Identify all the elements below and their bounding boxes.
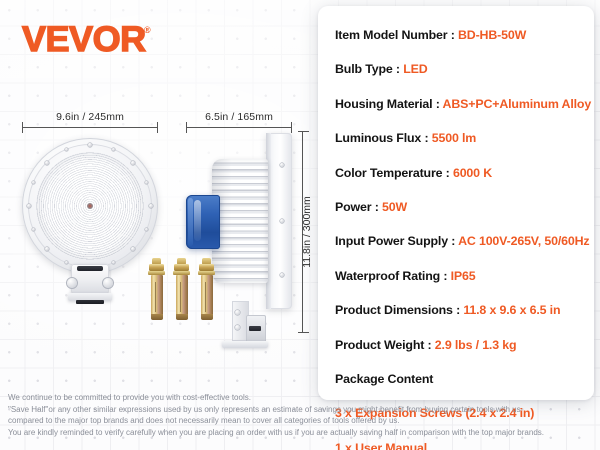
spec-value: 5500 lm bbox=[432, 131, 476, 145]
dimension-height-cap-bottom bbox=[298, 332, 309, 333]
spec-value: LED bbox=[403, 62, 427, 76]
package-content-heading-label: Package Content bbox=[335, 372, 433, 386]
lamp-back-housing bbox=[266, 133, 292, 309]
lamp-rim-screw bbox=[45, 247, 49, 251]
spec-value: 2.9 lbs / 1.3 kg bbox=[435, 338, 517, 352]
screw-tip bbox=[201, 314, 213, 320]
expansion-screws-group bbox=[148, 258, 215, 320]
connector-cap-highlight bbox=[194, 200, 201, 241]
lamp-rim-screw bbox=[88, 143, 92, 147]
screw-shaft bbox=[151, 275, 163, 319]
dimension-width-label: 9.6in / 245mm bbox=[22, 111, 158, 123]
dimension-height-label: 11.8in / 300mm bbox=[301, 196, 313, 268]
spec-value: 6000 K bbox=[453, 166, 492, 180]
bracket-foot bbox=[76, 300, 104, 304]
bracket-hole-lower bbox=[235, 325, 240, 330]
spec-row: Product Dimensions : 11.8 x 9.6 x 6.5 in bbox=[335, 303, 594, 317]
screw-shaft bbox=[176, 275, 188, 319]
spec-value: BD-HB-50W bbox=[458, 28, 526, 42]
spec-label: Item Model Number : bbox=[335, 28, 458, 42]
dimension-width-cap-left bbox=[22, 122, 23, 133]
bracket-hole-upper bbox=[235, 310, 240, 315]
vevor-logo: VEVOR ® bbox=[22, 22, 151, 57]
lamp-heatsink-fins bbox=[212, 159, 268, 283]
expansion-screw bbox=[198, 258, 215, 320]
spec-label: Product Dimensions : bbox=[335, 303, 463, 317]
bracket-knob-left bbox=[67, 278, 77, 288]
lamp-rim-screw bbox=[131, 247, 135, 251]
screw-nut bbox=[149, 264, 164, 271]
disclaimer-line-2: "Save Half"or any other similar expressi… bbox=[8, 404, 598, 416]
dimension-depth-label: 6.5in / 165mm bbox=[186, 111, 292, 123]
screw-split bbox=[205, 282, 206, 312]
spec-row: Product Weight : 2.9 lbs / 1.3 kg bbox=[335, 338, 594, 352]
back-screw-top bbox=[280, 163, 284, 167]
dimension-depth: 6.5in / 165mm bbox=[186, 113, 292, 131]
screw-nut bbox=[199, 264, 214, 271]
lamp-rim-screw bbox=[27, 204, 31, 208]
spec-label: Bulb Type : bbox=[335, 62, 403, 76]
package-content-item: 1 x User Manual bbox=[335, 441, 594, 450]
bracket-side-base-plate bbox=[222, 341, 268, 348]
spec-label: Input Power Supply : bbox=[335, 234, 458, 248]
dimension-width-cap-right bbox=[157, 122, 158, 133]
back-screw-middle bbox=[280, 219, 284, 223]
specification-panel: Item Model Number : BD-HB-50WBulb Type :… bbox=[318, 6, 594, 400]
spec-row: Color Temperature : 6000 K bbox=[335, 166, 594, 180]
blue-connector-cap-icon bbox=[186, 195, 220, 249]
spec-label: Waterproof Rating : bbox=[335, 269, 451, 283]
disclaimer-line-4: You are kindly reminded to verify carefu… bbox=[8, 427, 598, 439]
dimension-depth-cap-right bbox=[291, 122, 292, 133]
lamp-rim-screw bbox=[149, 204, 153, 208]
spec-value: 50W bbox=[382, 200, 407, 214]
screw-shaft bbox=[201, 275, 213, 319]
disclaimer-text: We continue to be committed to provide y… bbox=[8, 392, 598, 438]
spec-label: Color Temperature : bbox=[335, 166, 453, 180]
dimension-height: 11.8in / 300mm bbox=[298, 131, 316, 333]
spec-row: Item Model Number : BD-HB-50W bbox=[335, 28, 594, 42]
package-content-heading: Package Content bbox=[335, 372, 594, 386]
dimension-width: 9.6in / 245mm bbox=[22, 113, 158, 131]
dimension-height-cap-top bbox=[298, 131, 309, 132]
spec-value: AC 100V-265V, 50/60Hz bbox=[458, 234, 589, 248]
spec-row: Waterproof Rating : IP65 bbox=[335, 269, 594, 283]
connector-cap-ring bbox=[188, 198, 193, 246]
disclaimer-line-1: We continue to be committed to provide y… bbox=[8, 392, 598, 404]
spec-value: 11.8 x 9.6 x 6.5 in bbox=[463, 303, 560, 317]
lamp-center-emitter bbox=[87, 203, 93, 209]
back-screw-bottom bbox=[280, 273, 284, 277]
screw-nut bbox=[174, 264, 189, 271]
lamp-mounting-bracket-front bbox=[66, 264, 114, 306]
dimension-depth-cap-left bbox=[186, 122, 187, 133]
spec-row: Housing Material : ABS+PC+Aluminum Alloy bbox=[335, 97, 594, 111]
lamp-rim-screw bbox=[45, 161, 49, 165]
vevor-logo-text: VEVOR bbox=[22, 22, 146, 57]
package-content-item-label: 1 x User Manual bbox=[335, 441, 427, 450]
dimension-width-bar bbox=[22, 127, 158, 128]
lamp-mounting-bracket-side bbox=[218, 301, 270, 359]
spec-row: Luminous Flux : 5500 lm bbox=[335, 131, 594, 145]
led-flood-light-front-view bbox=[22, 138, 158, 274]
spec-value: ABS+PC+Aluminum Alloy bbox=[443, 97, 592, 111]
screw-split bbox=[155, 282, 156, 312]
spec-label: Housing Material : bbox=[335, 97, 443, 111]
disclaimer-line-3: compared to the major top brands and doe… bbox=[8, 415, 598, 427]
spec-row: Input Power Supply : AC 100V-265V, 50/60… bbox=[335, 234, 594, 248]
product-image-area: 9.6in / 245mm 6.5in / 165mm 11.8in / 300… bbox=[0, 105, 320, 365]
screw-split bbox=[180, 282, 181, 312]
screw-tip bbox=[176, 314, 188, 320]
bracket-block bbox=[246, 315, 266, 343]
bracket-block-slot bbox=[249, 326, 261, 331]
specification-list: Item Model Number : BD-HB-50WBulb Type :… bbox=[335, 28, 594, 450]
expansion-screw bbox=[148, 258, 165, 320]
spec-label: Power : bbox=[335, 200, 382, 214]
spec-value: IP65 bbox=[451, 269, 476, 283]
spec-label: Luminous Flux : bbox=[335, 131, 432, 145]
spec-row: Bulb Type : LED bbox=[335, 62, 594, 76]
screw-tip bbox=[151, 314, 163, 320]
lamp-rim-screw bbox=[131, 161, 135, 165]
expansion-screw bbox=[173, 258, 190, 320]
spec-label: Product Weight : bbox=[335, 338, 435, 352]
spec-row: Power : 50W bbox=[335, 200, 594, 214]
bracket-knob-right bbox=[103, 278, 113, 288]
dimension-depth-bar bbox=[186, 127, 292, 128]
bracket-slot bbox=[77, 266, 103, 271]
